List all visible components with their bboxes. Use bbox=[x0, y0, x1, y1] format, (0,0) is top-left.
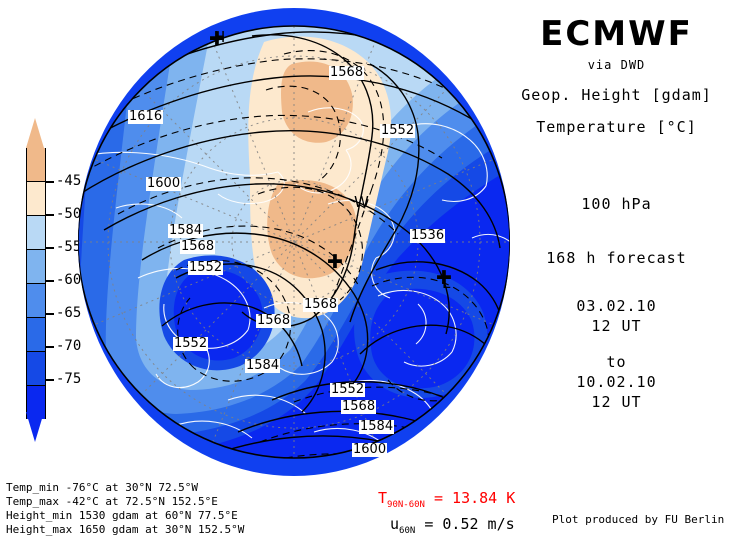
valid-date-from: 03.02.10 bbox=[500, 297, 733, 315]
field-label-height: Geop. Height [gdam] bbox=[500, 86, 733, 104]
to-label: to bbox=[500, 353, 733, 371]
contour-label-1584-2: 1584 bbox=[168, 224, 203, 238]
page-title: ECMWF bbox=[500, 14, 733, 54]
pressure-level: 100 hPa bbox=[500, 195, 733, 213]
field-label-temperature: Temperature [°C] bbox=[500, 118, 733, 136]
map-panel: ✚ H W ✚ ✚ L 1616160015841568155215361568… bbox=[70, 0, 520, 485]
colorbar-tick-3 bbox=[45, 280, 54, 282]
contour-label-1552-7: 1552 bbox=[188, 261, 223, 275]
contour-label-1600-1: 1600 bbox=[146, 177, 181, 191]
temperature-index-symbol: T bbox=[378, 489, 387, 507]
contour-label-1568-10: 1568 bbox=[303, 298, 338, 312]
contour-label-1568-6: 1568 bbox=[180, 240, 215, 254]
colorbar-bands bbox=[26, 148, 44, 419]
temperature-index-value: = 13.84 K bbox=[434, 489, 515, 507]
colorbar-tick-4 bbox=[45, 313, 54, 315]
contour-label-1568-3: 1568 bbox=[329, 66, 364, 80]
colorbar-tick-0 bbox=[45, 181, 54, 183]
source-subtitle: via DWD bbox=[500, 58, 733, 72]
stat-height-min: Height_min 1530 gdam at 60°N 77.5°E bbox=[6, 509, 244, 523]
colorbar-band-6 bbox=[26, 351, 46, 385]
contour-label-1600-15: 1600 bbox=[352, 443, 387, 457]
wind-index-symbol: u bbox=[390, 515, 399, 533]
valid-time-to: 12 UT bbox=[500, 393, 733, 411]
center-marker-cross: ✚ bbox=[327, 253, 343, 272]
contour-label-1552-4: 1552 bbox=[380, 124, 415, 138]
index-block: T90N-60N = 13.84 K u60N = 0.52 m/s bbox=[378, 489, 515, 541]
colorbar-cap-top bbox=[26, 118, 44, 148]
contour-label-1552-12: 1552 bbox=[330, 383, 365, 397]
contour-label-1584-14: 1584 bbox=[359, 420, 394, 434]
warm-marker-label: W bbox=[354, 195, 369, 210]
low-marker-label: L bbox=[442, 276, 450, 291]
colorbar-tick-1 bbox=[45, 214, 54, 216]
contour-label-1552-8: 1552 bbox=[173, 337, 208, 351]
colorbar-cap-bottom bbox=[26, 412, 44, 442]
field-statistics: Temp_min -76°C at 30°N 72.5°W Temp_max -… bbox=[6, 481, 244, 537]
temperature-index-subscript: 90N-60N bbox=[387, 500, 425, 510]
contour-label-1584-11: 1584 bbox=[245, 359, 280, 373]
wind-index-subscript: 60N bbox=[399, 526, 415, 536]
contour-label-1536-5: 1536 bbox=[410, 229, 445, 243]
wind-index: u60N = 0.52 m/s bbox=[378, 515, 515, 541]
colorbar-tick-2 bbox=[45, 247, 54, 249]
colorbar-band-3 bbox=[26, 249, 46, 283]
valid-date-to: 10.02.10 bbox=[500, 373, 733, 391]
polar-stereographic-globe: ✚ H W ✚ ✚ L bbox=[78, 8, 510, 476]
stat-height-max: Height_max 1650 gdam at 30°N 152.5°W bbox=[6, 523, 244, 537]
stat-temp-max: Temp_max -42°C at 72.5°N 152.5°E bbox=[6, 495, 244, 509]
high-marker-label: H bbox=[214, 30, 225, 45]
plot-credit: Plot produced by FU Berlin bbox=[552, 513, 724, 526]
stat-temp-min: Temp_min -76°C at 30°N 72.5°W bbox=[6, 481, 244, 495]
colorbar-band-2 bbox=[26, 215, 46, 249]
temperature-index: T90N-60N = 13.84 K bbox=[378, 489, 515, 515]
contour-label-1568-13: 1568 bbox=[341, 400, 376, 414]
colorbar-tick-6 bbox=[45, 379, 54, 381]
forecast-info-block: 100 hPa 168 h forecast 03.02.10 12 UT to… bbox=[500, 195, 733, 411]
wind-index-value: = 0.52 m/s bbox=[424, 515, 514, 533]
colorbar-band-0 bbox=[26, 148, 46, 181]
contour-label-1616-0: 1616 bbox=[128, 110, 163, 124]
contour-label-1568-9: 1568 bbox=[256, 314, 291, 328]
forecast-range: 168 h forecast bbox=[500, 249, 733, 267]
colorbar-tick-5 bbox=[45, 346, 54, 348]
colorbar-band-4 bbox=[26, 283, 46, 317]
colorbar-band-5 bbox=[26, 317, 46, 351]
colorbar-band-1 bbox=[26, 181, 46, 215]
valid-time-from: 12 UT bbox=[500, 317, 733, 335]
header-block: ECMWF via DWD Geop. Height [gdam] Temper… bbox=[500, 14, 733, 136]
map-field bbox=[78, 8, 510, 476]
